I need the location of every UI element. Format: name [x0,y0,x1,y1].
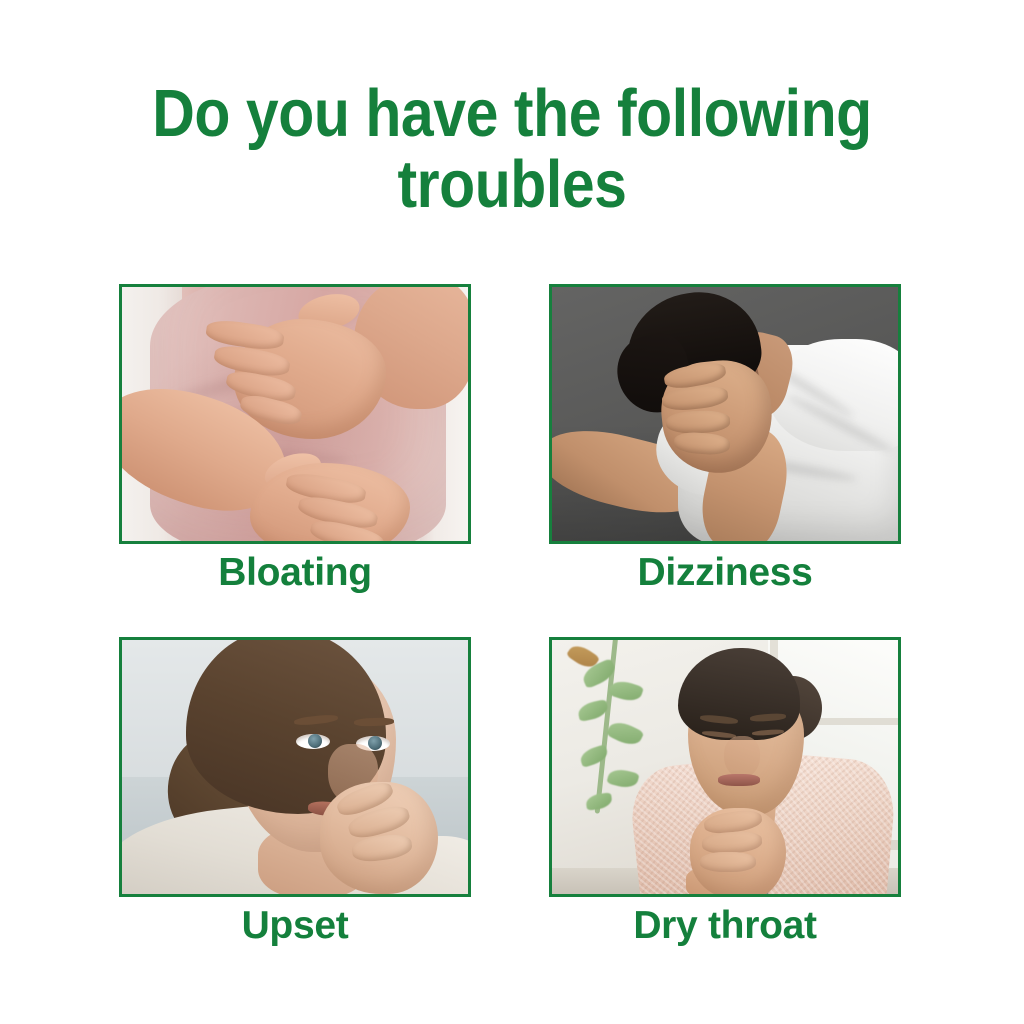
symptom-card-dry-throat: Dry throat [549,637,901,947]
photo-dizziness [552,287,898,541]
plant-leaf [606,767,639,791]
photo-frame-upset [119,637,471,897]
photo-upset [122,640,468,894]
plant-leaf [578,744,610,768]
symptom-card-bloating: Bloating [119,284,471,594]
symptom-card-upset: Upset [119,637,471,947]
symptom-grid: Bloating [119,284,905,947]
symptom-caption-dizziness: Dizziness [549,553,901,594]
symptom-caption-upset: Upset [119,906,471,947]
photo-bloating [122,287,468,541]
photo-frame-dry-throat [549,637,901,897]
promo-poster: Do you have the following troubles [0,0,1024,1024]
symptom-caption-dry-throat: Dry throat [549,906,901,947]
photo-frame-bloating [119,284,471,544]
photo-dry-throat [552,640,898,894]
finger [700,852,756,872]
plant-leaf [585,792,613,810]
iris [308,734,322,748]
plant-leaf [606,717,645,749]
page-title: Do you have the following troubles [116,78,908,220]
symptom-caption-bloating: Bloating [119,553,471,594]
photo-frame-dizziness [549,284,901,544]
symptom-card-dizziness: Dizziness [549,284,901,594]
lips [718,774,760,786]
hair [678,648,800,740]
nose [724,736,760,778]
iris [368,736,382,750]
